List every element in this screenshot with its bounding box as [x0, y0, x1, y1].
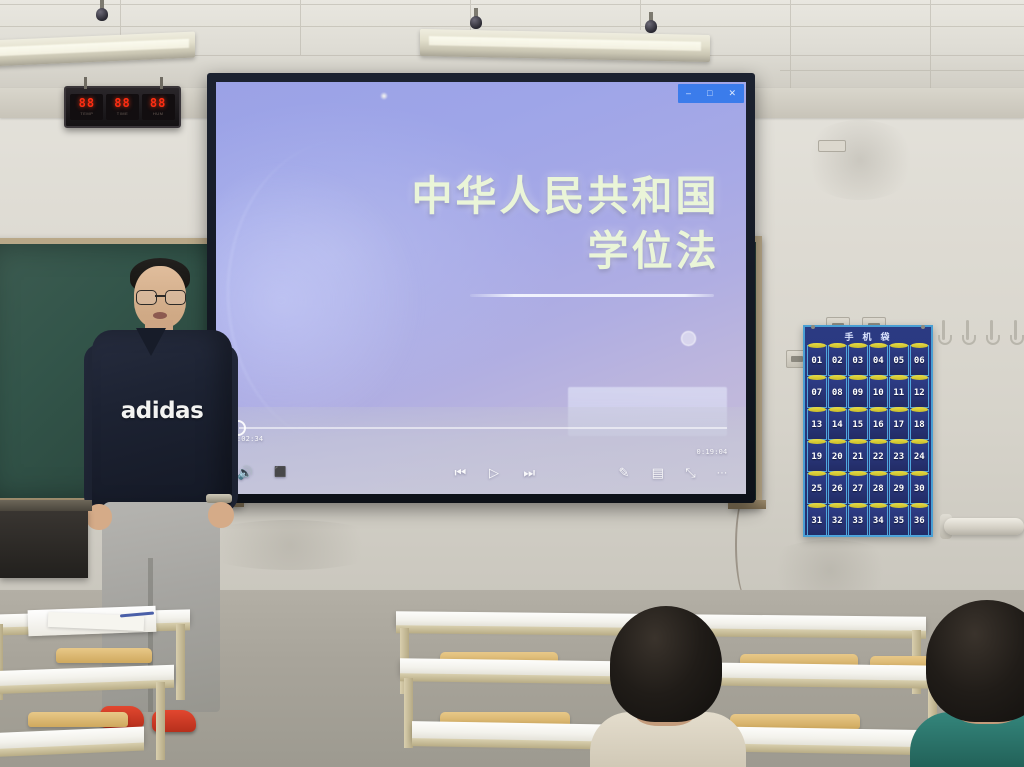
slide-bullet-dot: [681, 331, 696, 346]
pocket-number: 36: [914, 516, 925, 526]
play-icon[interactable]: ▷: [489, 460, 499, 486]
pocket-title-char: 手: [844, 330, 855, 343]
phone-pocket[interactable]: 04: [869, 345, 889, 376]
teacher-mouth: [153, 312, 167, 319]
video-icon-row: 🔊 ⬛ ⏮ ▷ ⏭ ✎ ▤ ⤡ ···: [216, 460, 746, 486]
phone-pocket[interactable]: 08: [828, 377, 848, 408]
phone-pocket[interactable]: 24: [910, 441, 930, 472]
phone-pocket[interactable]: 35: [889, 505, 909, 536]
pocket-number: 06: [914, 356, 925, 366]
coat-hook-icon[interactable]: [1014, 320, 1017, 340]
pocket-number: 07: [811, 388, 822, 398]
sprinkler-head-right: [645, 12, 657, 34]
clock-label: TIME: [117, 111, 129, 116]
volume-icon[interactable]: 🔊: [237, 460, 253, 486]
phone-pocket[interactable]: 17: [889, 409, 909, 440]
caption-box-icon[interactable]: ▤: [652, 460, 664, 486]
pocket-number: 34: [873, 516, 884, 526]
phone-pocket[interactable]: 06: [910, 345, 930, 376]
phone-pocket[interactable]: 16: [869, 409, 889, 440]
pocket-number: 14: [832, 420, 843, 430]
phone-pocket[interactable]: 26: [828, 473, 848, 504]
phone-pocket[interactable]: 32: [828, 505, 848, 536]
video-total-time: 0:19:04: [697, 448, 728, 456]
subtitles-icon[interactable]: ⬛: [274, 460, 286, 486]
projector-screen[interactable]: – □ ✕ 中华人民共和国 学位法 0:02:34 0:19:04 🔊 ⬛ ⏮: [207, 73, 755, 503]
pocket-number: 23: [893, 452, 904, 462]
phone-pocket[interactable]: 14: [828, 409, 848, 440]
desk-leg: [156, 682, 165, 760]
phone-pocket[interactable]: 01: [807, 345, 827, 376]
phone-pocket-chart: 手 机 袋 01 02 03 04 05 06 07 08 09 10 11 1…: [803, 325, 933, 537]
pocket-number: 15: [852, 420, 863, 430]
phone-pocket[interactable]: 10: [869, 377, 889, 408]
pocket-number: 27: [852, 484, 863, 494]
pocket-number: 28: [873, 484, 884, 494]
slide-title-line2: 学位法: [248, 224, 720, 280]
wall-pipe: [944, 518, 1024, 535]
phone-pocket[interactable]: 29: [889, 473, 909, 504]
coat-hook-rail: [938, 320, 1024, 350]
digital-wall-clock: 88 TEMP 88 TIME 88 HUM: [64, 86, 181, 128]
phone-pocket[interactable]: 22: [869, 441, 889, 472]
phone-pocket[interactable]: 27: [848, 473, 868, 504]
maximize-icon[interactable]: □: [707, 89, 712, 98]
phone-pocket[interactable]: 09: [848, 377, 868, 408]
clock-panel: 88 TEMP: [70, 94, 103, 120]
minimize-icon[interactable]: –: [686, 89, 691, 98]
phone-pocket[interactable]: 02: [828, 345, 848, 376]
teacher-leg-seam: [148, 558, 153, 712]
student-hair: [926, 600, 1024, 722]
chair-left-front[interactable]: [28, 712, 128, 727]
fullscreen-icon[interactable]: ⤡: [685, 460, 695, 486]
pocket-number: 05: [893, 356, 904, 366]
classroom-scene: – □ ✕ 中华人民共和国 学位法 0:02:34 0:19:04 🔊 ⬛ ⏮: [0, 0, 1024, 767]
clock-label: HUM: [153, 111, 164, 116]
podium: [0, 508, 88, 578]
pocket-title-char: 袋: [881, 330, 892, 343]
next-icon[interactable]: ⏭: [523, 460, 535, 486]
chair-left[interactable]: [56, 648, 152, 663]
pocket-number: 04: [873, 356, 884, 366]
phone-pocket[interactable]: 12: [910, 377, 930, 408]
phone-pocket-chart-title: 手 机 袋: [806, 328, 930, 345]
phone-pocket[interactable]: 03: [848, 345, 868, 376]
clock-digits: 88: [79, 97, 95, 109]
window-controls[interactable]: – □ ✕: [678, 84, 744, 103]
pocket-number: 20: [832, 452, 843, 462]
pocket-number: 26: [832, 484, 843, 494]
phone-pocket-grid: 01 02 03 04 05 06 07 08 09 10 11 12 13 1…: [806, 345, 930, 536]
phone-pocket[interactable]: 18: [910, 409, 930, 440]
wall-plate-upper: [818, 140, 846, 152]
phone-pocket[interactable]: 21: [848, 441, 868, 472]
pocket-number: 25: [811, 484, 822, 494]
video-control-bar[interactable]: 0:02:34 0:19:04 🔊 ⬛ ⏮ ▷ ⏭ ✎ ▤ ⤡ ···: [216, 407, 746, 494]
phone-pocket[interactable]: 30: [910, 473, 930, 504]
glasses-icon: [136, 290, 184, 303]
pocket-number: 22: [873, 452, 884, 462]
teacher-shirt-logo: adidas: [102, 398, 222, 424]
phone-pocket[interactable]: 15: [848, 409, 868, 440]
pocket-number: 16: [873, 420, 884, 430]
pocket-number: 21: [852, 452, 863, 462]
podium-top: [0, 500, 92, 511]
student-front-center: [596, 606, 736, 767]
phone-pocket[interactable]: 11: [889, 377, 909, 408]
projector-hotspot: [380, 92, 388, 100]
pocket-number: 08: [832, 388, 843, 398]
pocket-number: 03: [852, 356, 863, 366]
clock-digits: 88: [114, 97, 130, 109]
pocket-number: 01: [811, 356, 822, 366]
phone-pocket[interactable]: 31: [807, 505, 827, 536]
pocket-number: 18: [914, 420, 925, 430]
previous-icon[interactable]: ⏮: [455, 460, 467, 486]
slide-title-line1: 中华人民共和国: [248, 169, 720, 225]
pocket-number: 24: [914, 452, 925, 462]
phone-pocket[interactable]: 28: [869, 473, 889, 504]
phone-pocket[interactable]: 07: [807, 377, 827, 408]
student-hair: [610, 606, 722, 722]
pocket-title-char: 机: [862, 330, 873, 343]
pocket-number: 11: [893, 388, 904, 398]
pen-icon[interactable]: ✎: [619, 460, 630, 486]
clock-digits: 88: [150, 97, 166, 109]
more-options-icon[interactable]: ···: [716, 460, 727, 486]
pocket-number: 13: [811, 420, 822, 430]
pocket-number: 02: [832, 356, 843, 366]
pocket-number: 30: [914, 484, 925, 494]
slide-underline: [470, 294, 714, 297]
phone-pocket[interactable]: 13: [807, 409, 827, 440]
coat-hook-icon[interactable]: [990, 320, 993, 340]
pocket-number: 33: [852, 516, 863, 526]
sprinkler-head-left: [96, 0, 108, 22]
phone-pocket[interactable]: 05: [889, 345, 909, 376]
phone-pocket[interactable]: 19: [807, 441, 827, 472]
phone-pocket[interactable]: 25: [807, 473, 827, 504]
pocket-number: 29: [893, 484, 904, 494]
pocket-number: 09: [852, 388, 863, 398]
phone-pocket[interactable]: 23: [889, 441, 909, 472]
sprinkler-head-center: [470, 8, 482, 30]
clock-label: TEMP: [80, 111, 93, 116]
phone-pocket[interactable]: 20: [828, 441, 848, 472]
coat-hook-icon[interactable]: [942, 320, 945, 340]
pocket-number: 17: [893, 420, 904, 430]
coat-hook-icon[interactable]: [966, 320, 969, 340]
video-progress-track[interactable]: [239, 427, 728, 429]
phone-pocket[interactable]: 33: [848, 505, 868, 536]
pocket-number: 31: [811, 516, 822, 526]
pocket-number: 19: [811, 452, 822, 462]
phone-pocket[interactable]: 34: [869, 505, 889, 536]
clock-panel: 88 TIME: [106, 94, 139, 120]
student-front-right: [920, 600, 1024, 767]
pocket-number: 10: [873, 388, 884, 398]
desk-leg: [176, 624, 185, 700]
phone-pocket[interactable]: 36: [910, 505, 930, 536]
close-icon[interactable]: ✕: [728, 89, 736, 98]
projected-slide[interactable]: – □ ✕ 中华人民共和国 学位法 0:02:34 0:19:04 🔊 ⬛ ⏮: [216, 82, 746, 494]
teacher-right-hand: [208, 502, 234, 528]
pocket-number: 35: [893, 516, 904, 526]
pocket-number: 32: [832, 516, 843, 526]
pocket-number: 12: [914, 388, 925, 398]
slide-title: 中华人民共和国 学位法: [248, 169, 720, 281]
clock-panel: 88 HUM: [142, 94, 175, 120]
